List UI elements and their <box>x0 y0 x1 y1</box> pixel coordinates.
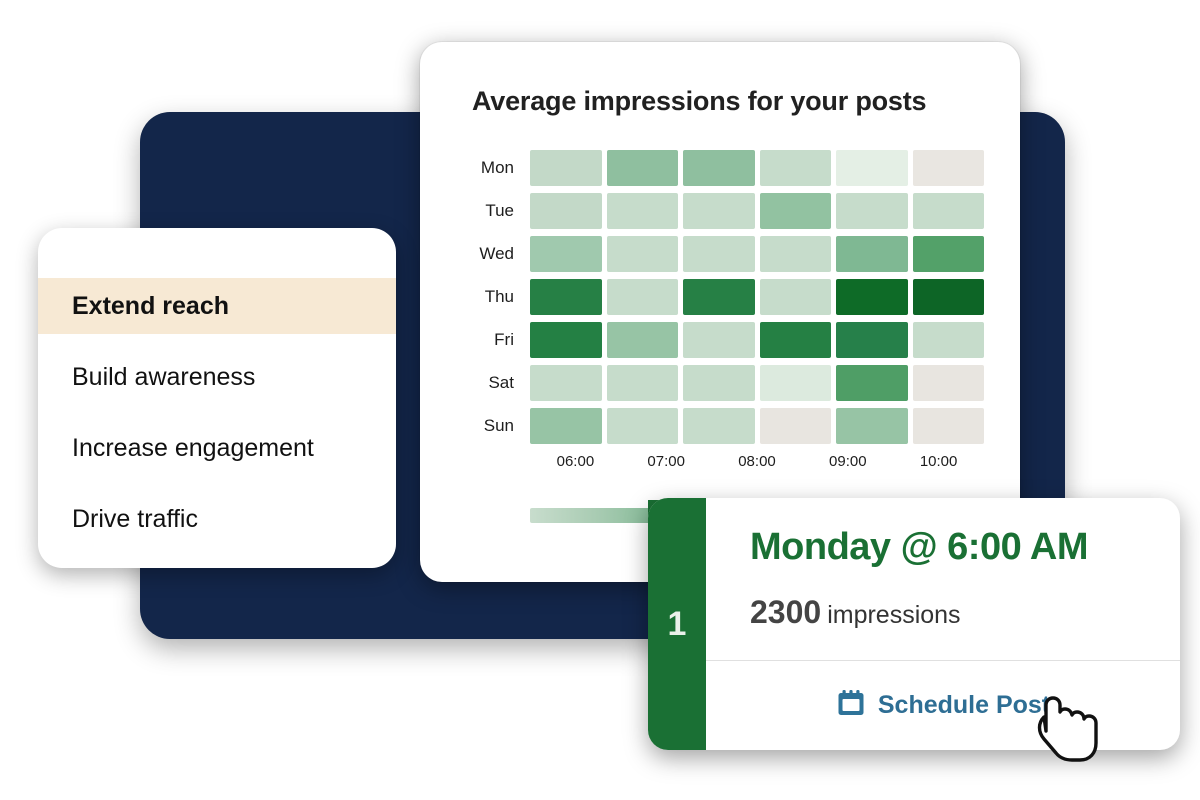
screenshot-stage: Average impressions for your posts MonTu… <box>0 0 1200 800</box>
heatmap-cell[interactable] <box>530 236 602 272</box>
heatmap-row-cells <box>530 279 984 315</box>
impressions-value: 2300 <box>750 594 821 630</box>
heatmap-cell[interactable] <box>836 236 908 272</box>
menu-item-build-awareness[interactable]: Build awareness <box>38 349 396 405</box>
heatmap-row: Sun <box>472 404 984 447</box>
best-time-headline: Monday@ 6:00 AM <box>750 526 1088 569</box>
heatmap-cell[interactable] <box>913 150 985 186</box>
heatmap-cell[interactable] <box>683 193 755 229</box>
menu-item-label: Extend reach <box>72 292 229 321</box>
goals-menu-card: Extend reachBuild awarenessIncrease enga… <box>38 228 396 568</box>
heatmap-cell[interactable] <box>607 279 679 315</box>
heatmap-cell[interactable] <box>836 279 908 315</box>
chart-title: Average impressions for your posts <box>472 86 926 117</box>
heatmap-day-label: Sun <box>472 416 530 436</box>
impressions-heatmap: MonTueWedThuFriSatSun 06:0007:0008:0009:… <box>472 146 984 470</box>
heatmap-cell[interactable] <box>530 150 602 186</box>
heatmap-x-label: 06:00 <box>530 453 621 470</box>
heatmap-row: Thu <box>472 275 984 318</box>
heatmap-cell[interactable] <box>913 279 985 315</box>
heatmap-cell[interactable] <box>530 193 602 229</box>
menu-gap <box>38 405 396 420</box>
menu-item-increase-engagement[interactable]: Increase engagement <box>38 420 396 476</box>
heatmap-x-label: 10:00 <box>893 453 984 470</box>
chart-title-text: Average impressions for your posts <box>472 86 926 116</box>
heatmap-cell[interactable] <box>913 365 985 401</box>
calendar-icon <box>836 688 866 723</box>
heatmap-cell[interactable] <box>530 279 602 315</box>
heatmap-day-label: Tue <box>472 201 530 221</box>
heatmap-row: Wed <box>472 232 984 275</box>
rank-badge: 1 <box>648 498 706 750</box>
heatmap-cell[interactable] <box>683 365 755 401</box>
heatmap-cell[interactable] <box>913 408 985 444</box>
heatmap-cell[interactable] <box>836 322 908 358</box>
schedule-post-button[interactable]: Schedule Post <box>706 660 1180 750</box>
heatmap-row-cells <box>530 236 984 272</box>
rank-number: 1 <box>668 605 687 644</box>
impressions-unit: impressions <box>827 601 960 629</box>
heatmap-day-label: Fri <box>472 330 530 350</box>
heatmap-row-cells <box>530 365 984 401</box>
heatmap-cell[interactable] <box>760 365 832 401</box>
heatmap-cell[interactable] <box>530 365 602 401</box>
heatmap-cell[interactable] <box>683 236 755 272</box>
heatmap-cell[interactable] <box>607 150 679 186</box>
heatmap-row: Fri <box>472 318 984 361</box>
menu-item-label: Drive traffic <box>72 505 198 534</box>
detail-card-body: Monday@ 6:00 AM 2300impressions Schedule… <box>706 498 1180 750</box>
heatmap-cell[interactable] <box>607 193 679 229</box>
best-time-time: @ 6:00 AM <box>901 526 1088 568</box>
heatmap-cell[interactable] <box>683 279 755 315</box>
heatmap-x-axis: 06:0007:0008:0009:0010:00 <box>530 453 984 470</box>
heatmap-cell[interactable] <box>913 322 985 358</box>
heatmap-cell[interactable] <box>683 322 755 358</box>
heatmap-day-label: Wed <box>472 244 530 264</box>
heatmap-cell[interactable] <box>760 236 832 272</box>
heatmap-cell[interactable] <box>607 408 679 444</box>
heatmap-cell[interactable] <box>760 279 832 315</box>
heatmap-cell[interactable] <box>760 150 832 186</box>
impressions-metric: 2300impressions <box>750 594 961 631</box>
heatmap-cell[interactable] <box>836 408 908 444</box>
heatmap-cell[interactable] <box>836 193 908 229</box>
heatmap-day-label: Sat <box>472 373 530 393</box>
heatmap-x-label: 08:00 <box>712 453 803 470</box>
heatmap-row-cells <box>530 408 984 444</box>
menu-gap <box>38 334 396 349</box>
heatmap-day-label: Mon <box>472 158 530 178</box>
heatmap-cell[interactable] <box>530 408 602 444</box>
heatmap-cell[interactable] <box>836 365 908 401</box>
menu-item-label: Build awareness <box>72 363 255 392</box>
best-time-day: Monday <box>750 526 891 568</box>
heatmap-row: Mon <box>472 146 984 189</box>
heatmap-row-cells <box>530 150 984 186</box>
heatmap-cell[interactable] <box>607 236 679 272</box>
heatmap-row: Sat <box>472 361 984 404</box>
heatmap-row-cells <box>530 322 984 358</box>
best-time-detail-card: 1 Monday@ 6:00 AM 2300impressions <box>648 498 1180 750</box>
heatmap-cell[interactable] <box>836 150 908 186</box>
heatmap-row-cells <box>530 193 984 229</box>
heatmap-day-label: Thu <box>472 287 530 307</box>
heatmap-row: Tue <box>472 189 984 232</box>
heatmap-cell[interactable] <box>760 193 832 229</box>
heatmap-cell[interactable] <box>913 236 985 272</box>
schedule-post-label: Schedule Post <box>878 691 1050 720</box>
heatmap-cell[interactable] <box>607 322 679 358</box>
menu-item-extend-reach[interactable]: Extend reach <box>38 278 396 334</box>
heatmap-cell[interactable] <box>683 150 755 186</box>
heatmap-cell[interactable] <box>607 365 679 401</box>
heatmap-x-label: 07:00 <box>621 453 712 470</box>
menu-item-label: Increase engagement <box>72 434 314 463</box>
heatmap-cell[interactable] <box>760 322 832 358</box>
menu-gap <box>38 476 396 491</box>
menu-item-drive-traffic[interactable]: Drive traffic <box>38 491 396 547</box>
heatmap-cell[interactable] <box>683 408 755 444</box>
heatmap-cell[interactable] <box>913 193 985 229</box>
heatmap-x-label: 09:00 <box>802 453 893 470</box>
heatmap-cell[interactable] <box>760 408 832 444</box>
heatmap-cell[interactable] <box>530 322 602 358</box>
